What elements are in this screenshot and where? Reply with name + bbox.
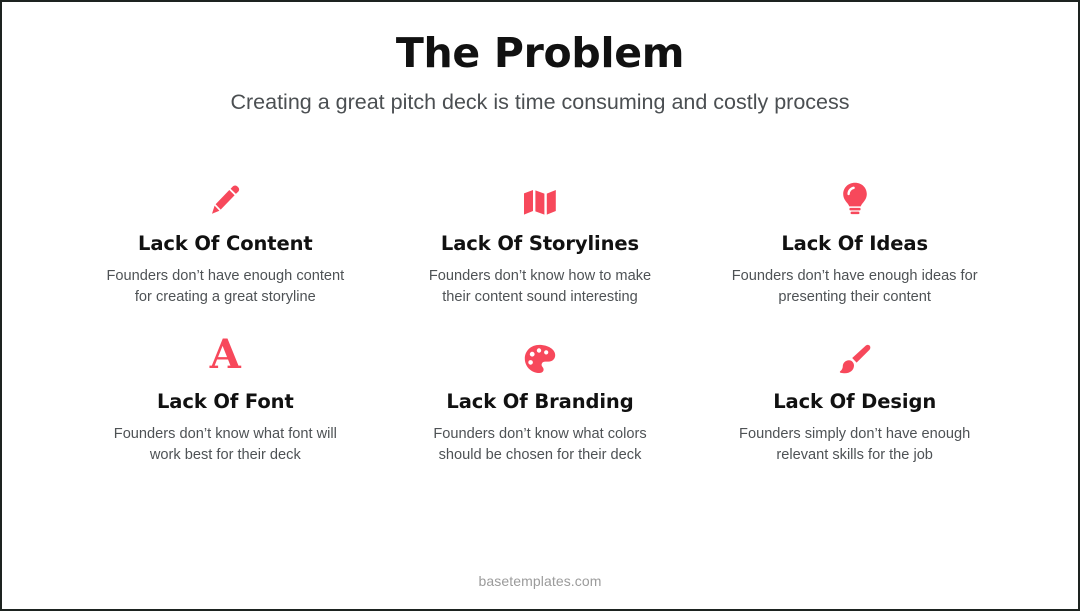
letter-a-icon: A: [210, 332, 241, 374]
slide-header: The Problem Creating a great pitch deck …: [2, 2, 1078, 116]
grid-item-lack-of-branding: Lack Of Branding Founders don’t know wha…: [383, 332, 698, 466]
grid-item-title: Lack Of Branding: [446, 390, 633, 413]
grid-item-title: Lack Of Content: [138, 232, 313, 255]
grid-item-lack-of-ideas: Lack Of Ideas Founders don’t have enough…: [697, 174, 1012, 308]
grid-item-description: Founders don’t have enough content for c…: [100, 266, 350, 307]
grid-item-lack-of-font: A Lack Of Font Founders don’t know what …: [68, 332, 383, 466]
grid-item-description: Founders don’t know what font will work …: [100, 424, 350, 465]
grid-item-title: Lack Of Design: [773, 390, 936, 413]
grid-item-lack-of-storylines: Lack Of Storylines Founders don’t know h…: [383, 174, 698, 308]
grid-item-title: Lack Of Storylines: [441, 232, 639, 255]
slide-footer: basetemplates.com: [2, 573, 1078, 609]
grid-item-lack-of-content: Lack Of Content Founders don’t have enou…: [68, 174, 383, 308]
grid-item-description: Founders don’t know how to make their co…: [415, 266, 665, 307]
grid-item-description: Founders don’t know what colors should b…: [415, 424, 665, 465]
palette-icon: [524, 332, 556, 374]
map-icon: [523, 174, 557, 216]
page-title: The Problem: [2, 30, 1078, 77]
lightbulb-icon: [842, 174, 868, 216]
grid-item-lack-of-design: Lack Of Design Founders simply don’t hav…: [697, 332, 1012, 466]
presentation-slide: The Problem Creating a great pitch deck …: [0, 0, 1080, 611]
letter-a-glyph: A: [210, 337, 241, 374]
grid-item-title: Lack Of Font: [157, 390, 294, 413]
page-subtitle: Creating a great pitch deck is time cons…: [2, 89, 1078, 116]
slide-content: The Problem Creating a great pitch deck …: [2, 2, 1078, 609]
problem-grid: Lack Of Content Founders don’t have enou…: [2, 116, 1078, 573]
pencil-icon: [210, 174, 240, 216]
grid-item-description: Founders don’t have enough ideas for pre…: [730, 266, 980, 307]
grid-item-title: Lack Of Ideas: [781, 232, 928, 255]
paintbrush-icon: [839, 332, 871, 374]
footer-branding: basetemplates.com: [478, 573, 601, 589]
grid-item-description: Founders simply don’t have enough releva…: [730, 424, 980, 465]
